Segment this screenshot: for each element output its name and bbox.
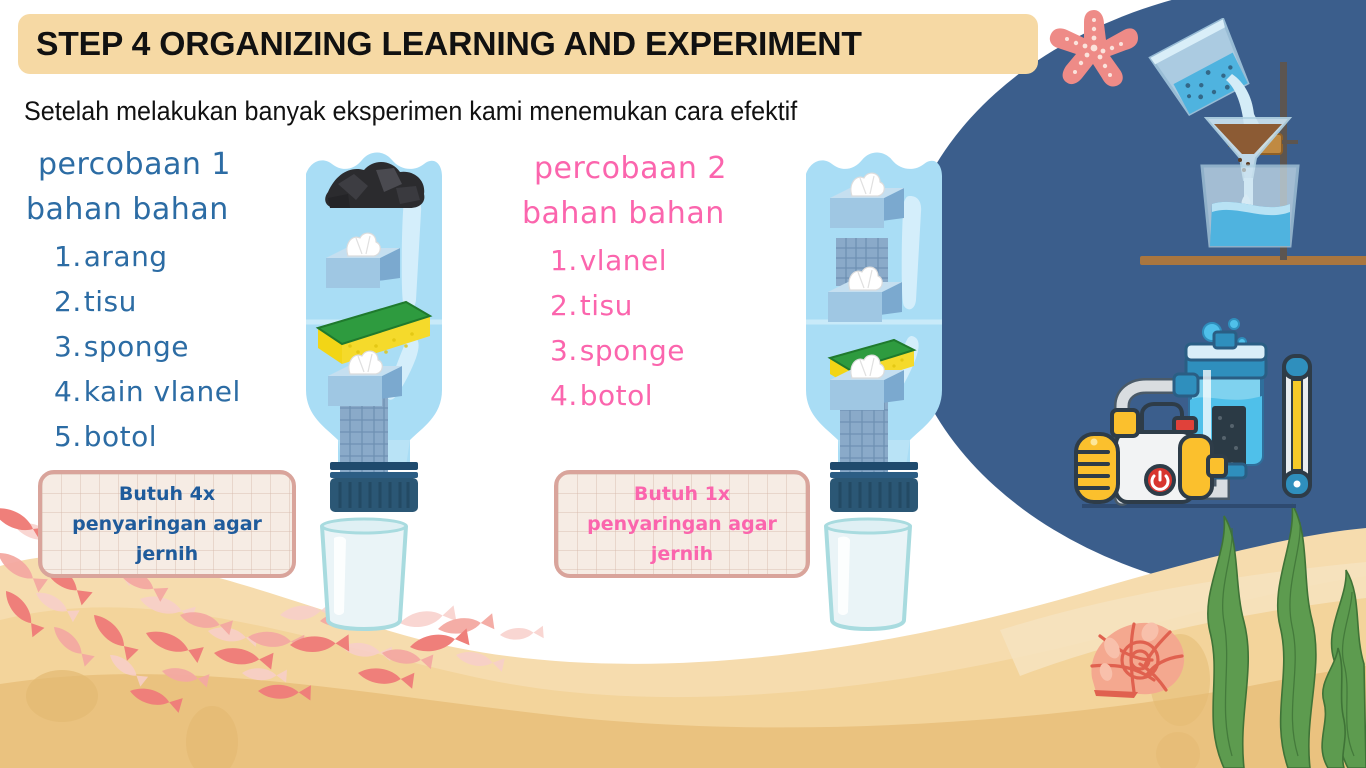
callout-text: Butuh 1x penyaringan agar jernih xyxy=(568,479,796,569)
title-banner: STEP 4 ORGANIZING LEARNING AND EXPERIMEN… xyxy=(18,14,1038,74)
experiment-1-heading: percobaan 1 xyxy=(26,142,241,187)
list-item: tisu xyxy=(54,279,241,324)
list-item: botol xyxy=(54,414,241,459)
experiment-1-materials: arang tisu sponge kain vlanel botol xyxy=(26,234,241,459)
list-item: sponge xyxy=(550,328,727,373)
list-item: arang xyxy=(54,234,241,279)
callout-experiment-2: Butuh 1x penyaringan agar jernih xyxy=(554,470,810,578)
experiment-2-materials: vlanel tisu sponge botol xyxy=(522,238,727,418)
callout-experiment-1: Butuh 4x penyaringan agar jernih xyxy=(38,470,296,578)
list-item: vlanel xyxy=(550,238,727,283)
list-item: kain vlanel xyxy=(54,369,241,414)
water-pump-filter-icon xyxy=(1056,314,1356,554)
nautilus-shell-icon xyxy=(1078,604,1198,704)
subtitle-text: Setelah melakukan banyak eksperimen kami… xyxy=(24,96,797,127)
list-item: botol xyxy=(550,373,727,418)
plastic-bottle-filter-icon-2 xyxy=(792,140,952,520)
experiment-2-list: percobaan 2 bahan bahan vlanel tisu spon… xyxy=(522,146,727,418)
experiment-2-subheading: bahan bahan xyxy=(522,191,727,236)
drinking-glass-icon-1 xyxy=(314,516,414,641)
page-title: STEP 4 ORGANIZING LEARNING AND EXPERIMEN… xyxy=(36,25,862,63)
starfish-icon xyxy=(1046,6,1142,92)
callout-text: Butuh 4x penyaringan agar jernih xyxy=(52,479,282,569)
slide-canvas: STEP 4 ORGANIZING LEARNING AND EXPERIMEN… xyxy=(0,0,1366,768)
list-item: sponge xyxy=(54,324,241,369)
experiment-1-subheading: bahan bahan xyxy=(26,187,241,232)
drinking-glass-icon-2 xyxy=(818,516,918,641)
list-item: tisu xyxy=(550,283,727,328)
plastic-bottle-filter-icon-1 xyxy=(292,140,452,520)
experiment-2-heading: percobaan 2 xyxy=(522,146,727,191)
beaker-funnel-experiment-icon xyxy=(1140,18,1366,288)
experiment-1-list: percobaan 1 bahan bahan arang tisu spong… xyxy=(26,142,241,459)
